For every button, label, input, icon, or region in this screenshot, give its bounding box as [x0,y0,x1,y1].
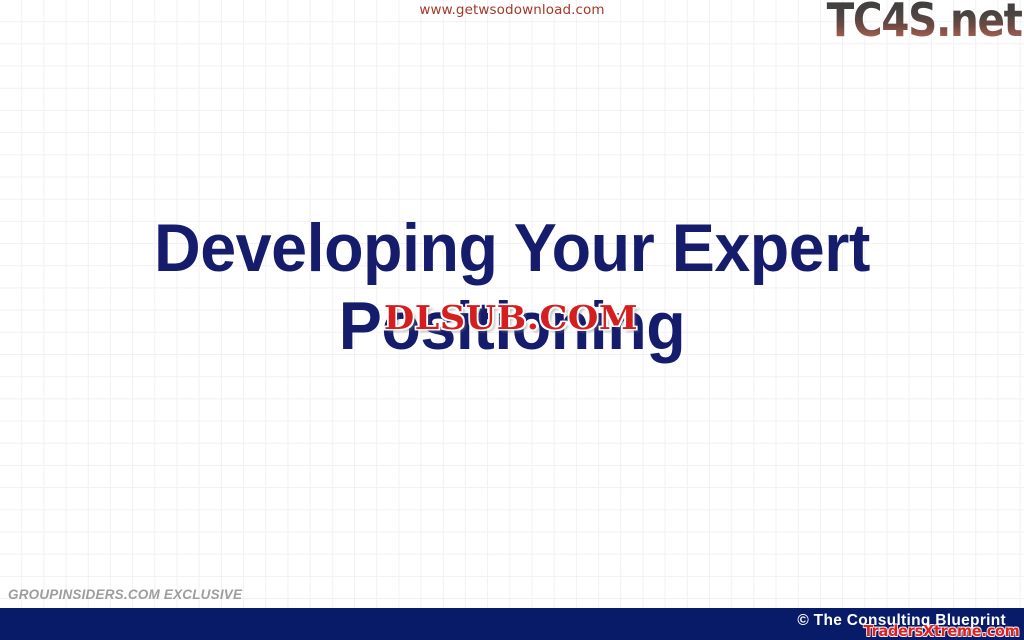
tc4s-logo-watermark: TC4S.net [827,0,1022,44]
presentation-slide: www.getwsodownload.com TC4S.net Developi… [0,0,1024,640]
exclusive-tag-label: GROUPINSIDERS.COM EXCLUSIVE [8,587,242,602]
page-title: Developing Your Expert Positioning [26,209,999,365]
dlsub-logo-watermark: DLSUB.COM [356,300,666,336]
tradersxtreme-watermark: TradersXtreme.com [864,622,1020,640]
